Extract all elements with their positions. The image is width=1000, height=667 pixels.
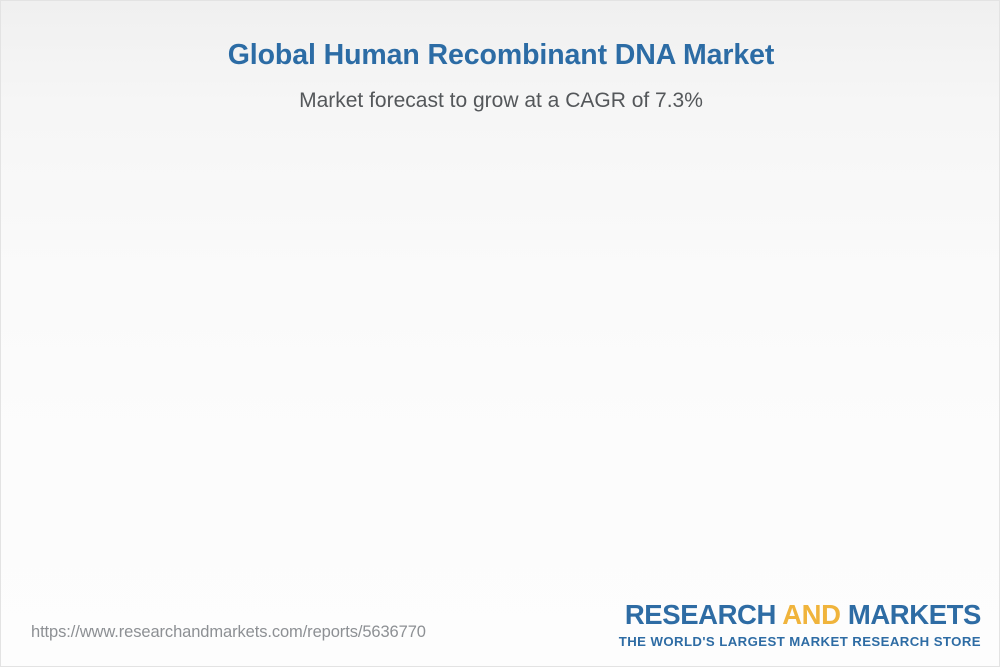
- infographic-canvas: Global Human Recombinant DNA Market Mark…: [0, 0, 1000, 667]
- brand-word-markets: MARKETS: [848, 599, 981, 630]
- brand-word-research: RESEARCH: [625, 599, 782, 630]
- brand-logo: RESEARCH AND MARKETS THE WORLD'S LARGEST…: [619, 601, 981, 648]
- brand-tagline: THE WORLD'S LARGEST MARKET RESEARCH STOR…: [619, 635, 981, 648]
- brand-wordmark: RESEARCH AND MARKETS: [619, 601, 981, 629]
- chart-plot-area: USD 348.7 Billion: [1, 1, 1000, 601]
- brand-word-and: AND: [782, 599, 848, 630]
- source-url[interactable]: https://www.researchandmarkets.com/repor…: [31, 623, 426, 642]
